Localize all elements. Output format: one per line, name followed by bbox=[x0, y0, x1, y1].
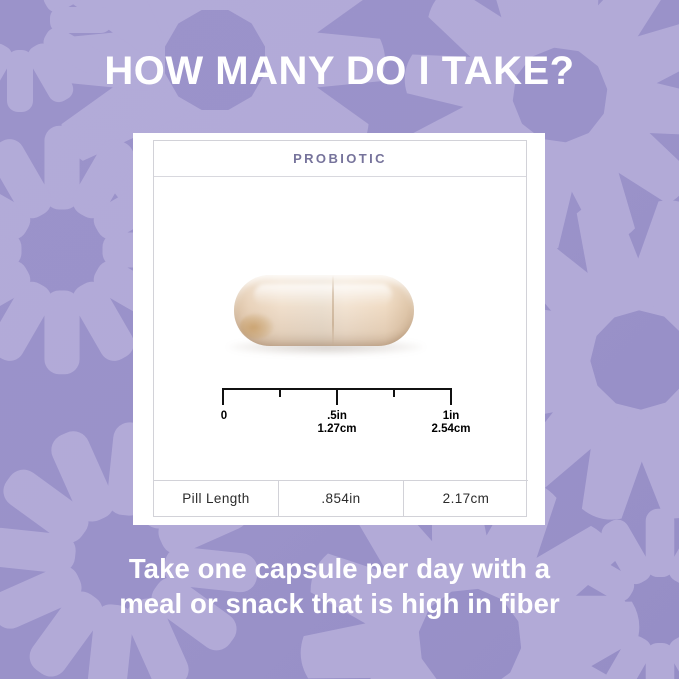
ruler-tick-50 bbox=[336, 388, 338, 405]
page-title: HOW MANY DO I TAKE? bbox=[0, 46, 679, 96]
capsule-seam bbox=[332, 275, 334, 346]
spec-table: Pill Length .854in 2.17cm bbox=[154, 480, 528, 516]
ruler-label-half-secondary: 1.27cm bbox=[307, 423, 367, 436]
ruler-label-zero: 0 bbox=[204, 410, 244, 423]
spec-inches-cell: .854in bbox=[278, 481, 403, 516]
capsule-display-area: 0 .5in 1.27cm 1in 2.54cm bbox=[154, 177, 528, 482]
ruler-label-half: .5in 1.27cm bbox=[307, 410, 367, 436]
product-type-label: PROBIOTIC bbox=[293, 151, 387, 166]
ruler-label-half-primary: .5in bbox=[327, 410, 347, 422]
spec-label-cell: Pill Length bbox=[154, 481, 278, 516]
ruler-tick-100 bbox=[450, 388, 452, 405]
product-card: PROBIOTIC 0 .5in bbox=[133, 133, 545, 525]
ruler-label-one-primary: 1in bbox=[443, 410, 460, 422]
card-header: PROBIOTIC bbox=[154, 141, 526, 177]
capsule-speckle bbox=[240, 313, 274, 339]
footer-caption: Take one capsule per day with a meal or … bbox=[0, 551, 679, 621]
footer-caption-line-2: meal or snack that is high in fiber bbox=[0, 586, 679, 621]
spec-cm-cell: 2.17cm bbox=[403, 481, 528, 516]
capsule-highlight bbox=[254, 284, 392, 306]
probiotic-capsule-icon bbox=[234, 275, 414, 346]
product-card-inner: PROBIOTIC 0 .5in bbox=[153, 140, 527, 517]
ruler-tick-25 bbox=[279, 388, 281, 397]
ruler-tick-0 bbox=[222, 388, 224, 405]
ruler-tick-75 bbox=[393, 388, 395, 397]
footer-caption-line-1: Take one capsule per day with a bbox=[0, 551, 679, 586]
ruler-label-zero-primary: 0 bbox=[221, 410, 227, 422]
ruler-label-one-secondary: 2.54cm bbox=[421, 423, 481, 436]
measurement-ruler: 0 .5in 1.27cm 1in 2.54cm bbox=[222, 388, 452, 412]
ruler-label-one: 1in 2.54cm bbox=[421, 410, 481, 436]
